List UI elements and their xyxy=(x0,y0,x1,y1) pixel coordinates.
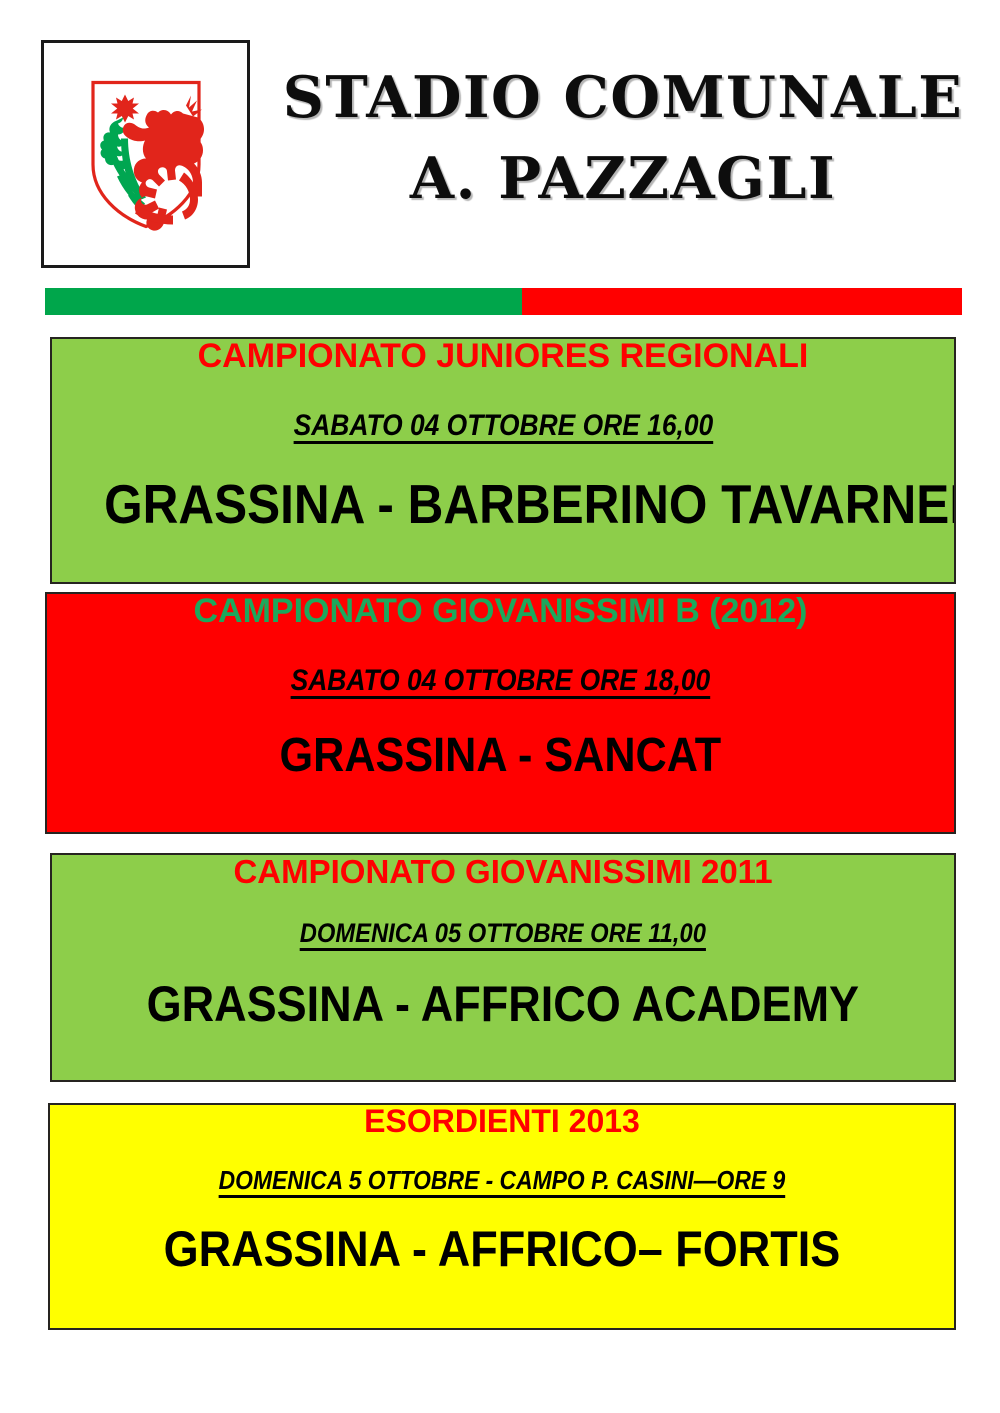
panel-date-time: DOMENICA 5 OTTOBRE - CAMPO P. CASINI—ORE… xyxy=(219,1167,786,1193)
match-panel-esordienti-2013: ESORDIENTI 2013 DOMENICA 5 OTTOBRE - CAM… xyxy=(48,1103,956,1330)
panel-match-teams: GRASSINA - AFFRICO ACADEMY xyxy=(147,979,859,1029)
flag-red-segment xyxy=(522,288,962,315)
panel-competition-title: CAMPIONATO JUNIORES REGIONALI xyxy=(198,337,809,375)
panel-match-teams: GRASSINA - AFFRICO– FORTIS xyxy=(164,1224,841,1274)
match-panel-juniores-regionali: CAMPIONATO JUNIORES REGIONALI SABATO 04 … xyxy=(50,337,956,584)
match-panel-giovanissimi-2011: CAMPIONATO GIOVANISSIMI 2011 DOMENICA 05… xyxy=(50,853,956,1082)
panel-date-time: SABATO 04 OTTOBRE ORE 16,00 xyxy=(293,411,713,441)
panel-competition-title: CAMPIONATO GIOVANISSIMI B (2012) xyxy=(194,592,808,630)
poster-header: STADIO COMUNALE A. PAZZAGLI xyxy=(0,0,1000,285)
grassina-club-crest-icon xyxy=(87,77,205,232)
panel-match-teams: GRASSINA - BARBERINO TAVARNELLE xyxy=(104,477,956,532)
panel-date-time: DOMENICA 05 OTTOBRE ORE 11,00 xyxy=(300,920,706,947)
tricolor-divider-bar xyxy=(45,288,962,315)
panel-competition-title: ESORDIENTI 2013 xyxy=(364,1103,640,1139)
flag-green-segment xyxy=(45,288,522,315)
panel-date-time: SABATO 04 OTTOBRE ORE 18,00 xyxy=(291,666,711,696)
page-title-line1: STADIO COMUNALE xyxy=(258,58,988,139)
panel-competition-title: CAMPIONATO GIOVANISSIMI 2011 xyxy=(233,853,772,890)
panel-match-teams: GRASSINA - SANCAT xyxy=(280,732,722,780)
stadium-title-block: STADIO COMUNALE A. PAZZAGLI xyxy=(258,58,988,220)
page-title-line2: A. PAZZAGLI xyxy=(258,139,988,220)
club-logo-box xyxy=(41,40,250,268)
match-panel-giovanissimi-b-2012: CAMPIONATO GIOVANISSIMI B (2012) SABATO … xyxy=(45,592,956,834)
